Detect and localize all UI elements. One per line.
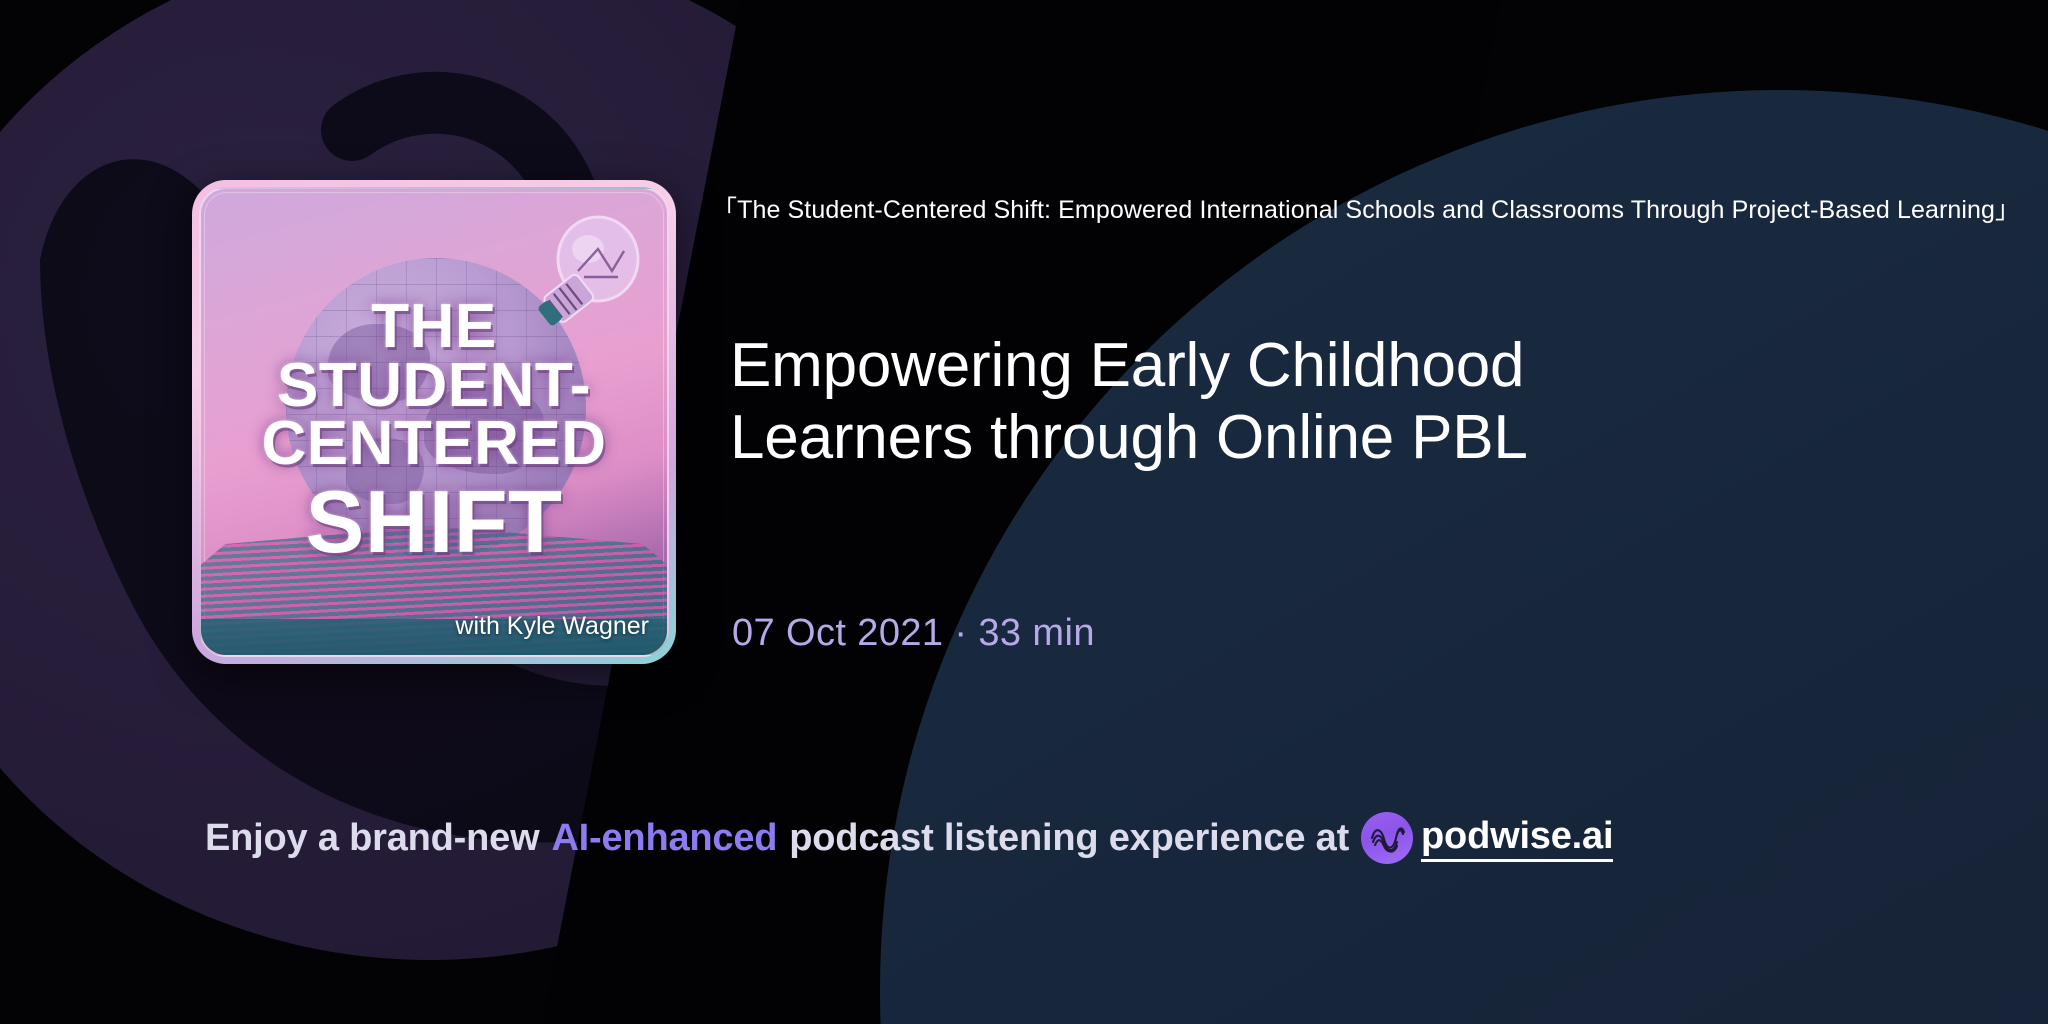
episode-meta: 07 Oct 2021 · 33 min (732, 612, 1095, 655)
podcast-episode-card: THE STUDENT- CENTERED SHIFT with Kyle Wa… (0, 0, 2048, 1024)
cover-title-block: THE STUDENT- CENTERED SHIFT (201, 189, 667, 655)
episode-title: Empowering Early Childhood Learners thro… (730, 330, 1790, 474)
cover-title-line-4: SHIFT (306, 481, 563, 564)
cover-title-line-3: CENTERED (261, 415, 606, 473)
promo-highlight: AI-enhanced (549, 817, 779, 860)
show-title: 「The Student-Centered Shift: Empowered I… (712, 190, 1912, 226)
cover-title-line-1: THE (371, 298, 497, 356)
episode-title-line-1: Empowering Early Childhood (730, 330, 1790, 402)
podcast-cover-art[interactable]: THE STUDENT- CENTERED SHIFT with Kyle Wa… (192, 180, 676, 664)
promo-text-part-2: podcast listening experience at (789, 817, 1349, 860)
promo-text-part-1: Enjoy a brand-new (205, 817, 539, 860)
episode-title-line-2: Learners through Online PBL (730, 402, 1790, 474)
podwise-waveform-logo-icon[interactable] (1361, 812, 1413, 864)
cover-title-line-2: STUDENT- (277, 357, 591, 415)
promo-banner: Enjoy a brand-new AI-enhanced podcast li… (205, 812, 1613, 864)
cover-host-credit: with Kyle Wagner (455, 612, 649, 641)
podwise-link[interactable]: podwise.ai (1421, 815, 1613, 862)
